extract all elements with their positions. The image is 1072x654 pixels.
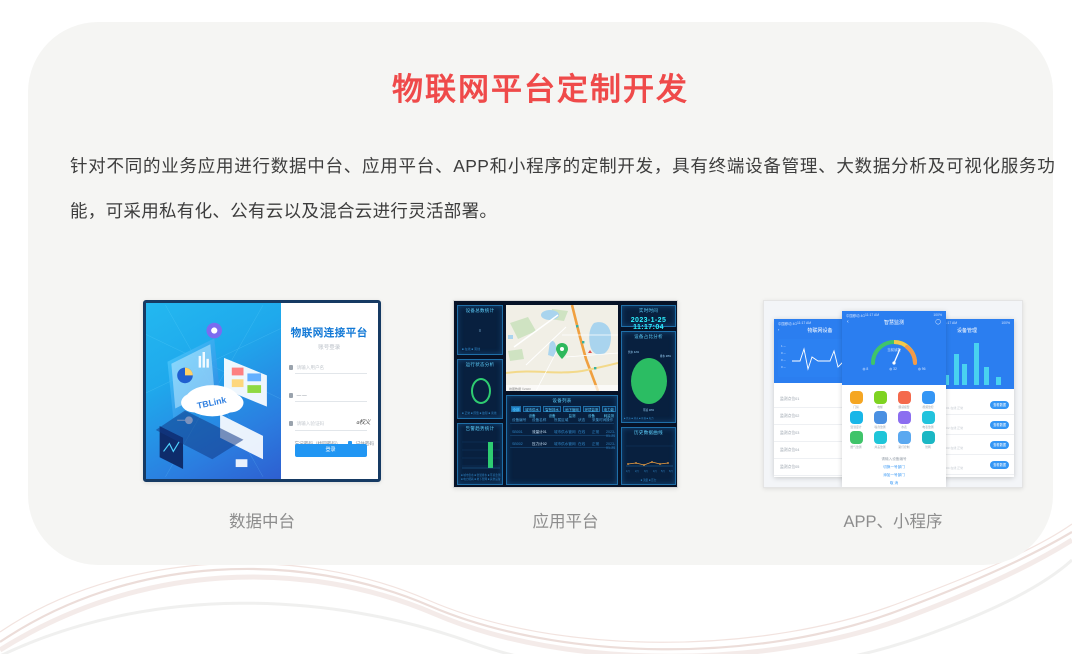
app-icon-0[interactable]: [850, 391, 863, 404]
app-icon-label-0: 门禁: [846, 405, 866, 409]
app-icon-label-9: 井盖监测: [870, 445, 890, 449]
table-header-row: 设备编号 设备名称 所属区域 状态 采集时间 操作: [510, 416, 614, 424]
login-submit-label: 登录: [295, 444, 367, 457]
panel-title-2: 运行状态分析: [458, 362, 502, 368]
td-1: 流量计01: [532, 430, 547, 435]
isometric-illustration: TBLink: [146, 303, 281, 479]
app-icon-label-10: 路灯控制: [894, 445, 914, 449]
login-subtitle: 账号登录: [281, 343, 378, 351]
status-carrier: 中国移动 4G: [846, 313, 865, 318]
svg-text:6月: 6月: [669, 469, 673, 473]
thumbnail-caption-3: APP、小程序: [763, 508, 1023, 532]
th-0: 设备编号: [512, 418, 526, 423]
app-icon-3[interactable]: [922, 391, 935, 404]
thumbnail-item-app-platform[interactable]: 设备总数统计 ≡ ■ 在线 ■ 离线 运行状态分析 ■ 正常 ■ 预警 ■ 故障…: [453, 300, 678, 488]
panel-device-total: 设备总数统计 ≡ ■ 在线 ■ 离线: [457, 305, 503, 355]
td-3: 在线: [578, 442, 585, 447]
app-icon-7[interactable]: [922, 411, 935, 424]
panel-title-6: 设备占比分析: [622, 334, 675, 340]
panel-title-7: 历史数据曲线: [622, 430, 675, 436]
link-cancel[interactable]: 取 消: [842, 481, 946, 486]
app-icon-1[interactable]: [874, 391, 887, 404]
app-icon-4[interactable]: [850, 411, 863, 424]
description-text: 针对不同的业务应用进行数据中台、应用平台、APP和小程序的定制开发，具有终端设备…: [70, 144, 1055, 233]
panel-history-curve: 历史数据曲线 1月2月3月: [621, 427, 676, 485]
td-4: 正常: [592, 430, 599, 435]
lock-icon: [289, 393, 293, 398]
td-5: 2023-01-25: [606, 430, 615, 438]
app-icon-6[interactable]: [898, 411, 911, 424]
status-battery: 100%: [1001, 321, 1010, 325]
map-canvas: 地图数据 ©2023: [506, 305, 618, 391]
app-icon-10[interactable]: [898, 431, 911, 444]
panel-alarm-trend: 告警趋势统计 ■ 城市供水 ■ 智慧排水 ■ 环境监测■ 电力能耗 ■ 地下管网…: [457, 423, 503, 485]
panel-device-ratio: 设备占比分析 供水 42% 排水 28% 环境 18% ■ 供水 ■ 排水 ■ …: [621, 331, 676, 423]
tab-pipe[interactable]: 地下管网监测: [563, 406, 581, 412]
view-data-button[interactable]: 查看数据: [990, 401, 1009, 409]
screenshot-mobile-apps: 中国移动 4G 11:17 AM 100% ‹ 物联网设备 1 ─0 ─ 0 ─…: [763, 300, 1023, 488]
screenshot-dark-dashboard: 设备总数统计 ≡ ■ 在线 ■ 离线 运行状态分析 ■ 正常 ■ 预警 ■ 故障…: [453, 300, 678, 488]
login-form: 物联网连接平台 账号登录 请输入用户名 —— 请输入验证码 a权义 忘记密码（找…: [281, 303, 378, 479]
app-icon-label-8: 燃气监测: [846, 445, 866, 449]
bar-6: [984, 367, 989, 385]
gauge-chart: 当前读数: [867, 331, 921, 367]
app-icon-5[interactable]: [874, 411, 887, 424]
thumbnail-row: TBLink: [28, 300, 1053, 550]
app-icon-label-1: 电梯: [870, 405, 890, 409]
td-4: 正常: [592, 442, 599, 447]
status-ring: [471, 378, 491, 404]
app-icon-8[interactable]: [850, 431, 863, 444]
app-icon-label-3: 视频监控: [918, 405, 938, 409]
table-title: 设备列表: [507, 398, 617, 404]
panel-run-status: 运行状态分析 ■ 正常 ■ 预警 ■ 故障 ■ 离线: [457, 359, 503, 419]
svg-text:4月: 4月: [653, 469, 657, 473]
link-prev-dept[interactable]: 切换一号部门: [842, 465, 946, 470]
td-2: 城市供水管网: [554, 430, 576, 435]
bar-4: [962, 364, 967, 385]
history-line-chart: 1月2月3月 4月5月6月: [622, 438, 677, 478]
login-title: 物联网连接平台: [281, 325, 378, 340]
status-battery: 100%: [933, 313, 942, 317]
user-icon: [289, 365, 293, 370]
gauge-label: 当前读数: [887, 347, 901, 352]
captcha-image[interactable]: a权义: [356, 417, 370, 426]
svg-text:5月: 5月: [661, 469, 665, 473]
list-item-label: 监测点位01: [780, 397, 799, 402]
list-item-label: 监测点位05: [780, 465, 799, 470]
thumbnail-item-app-miniprogram[interactable]: 中国移动 4G 11:17 AM 100% ‹ 物联网设备 1 ─0 ─ 0 ─…: [763, 300, 1023, 488]
tab-env[interactable]: 环境监测设备: [583, 406, 600, 412]
td-5: 2023-01-25: [606, 442, 615, 450]
td-1: 压力计02: [532, 442, 547, 447]
th-5: 操作: [606, 418, 613, 423]
thumbnail-caption-1: 数据中台: [143, 508, 381, 532]
captcha-underline: [295, 430, 367, 431]
app-icon-label-2: 烟感报警: [894, 405, 914, 409]
th-2: 所属区域: [554, 418, 568, 423]
tab-all[interactable]: 全部: [511, 406, 521, 412]
map-view[interactable]: 地图数据 ©2023: [506, 305, 618, 391]
svg-text:1月: 1月: [626, 469, 630, 473]
list-item-label: 监测点位03: [780, 431, 799, 436]
th-4: 采集时间: [592, 418, 606, 423]
status-carrier: 中国移动 4G: [778, 321, 797, 326]
app-icon-label-11: 管网: [918, 445, 938, 449]
phone-center-status: 中国移动 4G 11:17 AM 100%: [842, 313, 946, 318]
th-1: 设备名称: [532, 418, 546, 423]
thumbnail-caption-2: 应用平台: [453, 508, 678, 532]
list-item-label: 监测点位04: [780, 448, 799, 453]
username-underline: [295, 373, 367, 374]
content-card: 物联网平台定制开发 针对不同的业务应用进行数据中台、应用平台、APP和小程序的定…: [28, 22, 1053, 565]
password-underline: [295, 401, 367, 402]
login-illustration: TBLink: [146, 303, 281, 479]
tab-drain[interactable]: 智慧排水设备: [543, 406, 561, 412]
alarm-bar-chart: [458, 434, 504, 478]
app-icon-2[interactable]: [898, 391, 911, 404]
tab-water[interactable]: 城市供水设备: [523, 406, 541, 412]
clock-value: 2023-1-25 11:17:04: [622, 317, 675, 331]
username-input[interactable]: 请输入用户名: [297, 365, 325, 371]
list-item-label: 监测点位02: [780, 414, 799, 419]
panel-clock: 实时时间 2023-1-25 11:17:04: [621, 305, 676, 327]
shield-icon: [289, 421, 293, 426]
slide-root: 物联网平台定制开发 针对不同的业务应用进行数据中台、应用平台、APP和小程序的定…: [0, 0, 1072, 654]
bar-5: [974, 343, 979, 385]
status-time: 11:17 AM: [797, 321, 811, 325]
panel-title-3: 告警趋势统计: [458, 426, 502, 432]
app-icon-label-5: 噪音监测: [870, 425, 890, 429]
metric-row: ◍ 8 ◍ 32 ◍ 96: [852, 367, 936, 371]
device-table-panel: 设备列表 全部 城市供水设备 智慧排水设备 地下管网监测 环境监测设备 电力能耗…: [506, 395, 618, 485]
td-2: 城市供水管网: [554, 442, 576, 447]
thumbnail-item-data-platform[interactable]: TBLink: [143, 300, 381, 482]
table-row[interactable]: SB001 流量计01 城市供水管网 在线 正常 2023-01-25: [510, 428, 614, 436]
td-0: SB002: [512, 442, 523, 446]
login-submit-button[interactable]: 登录: [295, 444, 367, 457]
app-icon-label-7: 电表监测: [918, 425, 938, 429]
app-icon-label-4: 温湿度计: [846, 425, 866, 429]
app-icon-grid: 门禁 电梯 烟感报警 视频监控 温湿度计 噪音监测 水表 电表监测 燃气监测 井…: [842, 387, 946, 449]
app-icon-sheet: 门禁 电梯 烟感报警 视频监控 温湿度计 噪音监测 水表 电表监测 燃气监测 井…: [842, 387, 946, 487]
app-icon-label-6: 水表: [894, 425, 914, 429]
page-title: 物联网平台定制开发: [28, 64, 1053, 109]
sheet-hint: 请输入设备编号: [842, 457, 946, 462]
bar-3: [954, 354, 959, 385]
table-row[interactable]: SB002 压力计02 城市供水管网 在线 正常 2023-01-25: [510, 440, 614, 448]
phone-center-title: 智慧监测: [842, 319, 946, 326]
th-3: 状态: [578, 418, 585, 423]
app-icon-11[interactable]: [922, 431, 935, 444]
phone-center: 中国移动 4G 11:17 AM 100% ‹ ◯ 智慧监测: [842, 311, 946, 487]
svg-text:2月: 2月: [635, 469, 639, 473]
password-input[interactable]: ——: [297, 393, 308, 398]
view-data-button[interactable]: 查看数据: [990, 461, 1009, 469]
panel-title-1: 设备总数统计: [458, 308, 502, 314]
svg-text:3月: 3月: [644, 469, 648, 473]
panel-title-5: 实时时间: [622, 308, 675, 314]
svg-text:地图数据 ©2023: 地图数据 ©2023: [509, 386, 531, 391]
app-icon-9[interactable]: [874, 431, 887, 444]
link-next-dept[interactable]: 添加一号部门: [842, 473, 946, 478]
ratio-pie-chart: [631, 358, 667, 404]
td-0: SB001: [512, 430, 523, 434]
screenshot-iot-login: TBLink: [143, 300, 381, 482]
tab-power[interactable]: 电力能耗监测: [602, 406, 616, 412]
status-time: 11:17 AM: [865, 313, 879, 317]
captcha-input[interactable]: 请输入验证码: [297, 421, 325, 427]
bar-7: [996, 377, 1001, 385]
view-data-button[interactable]: 查看数据: [990, 421, 1009, 429]
td-3: 在线: [578, 430, 585, 435]
view-data-button[interactable]: 查看数据: [990, 441, 1009, 449]
